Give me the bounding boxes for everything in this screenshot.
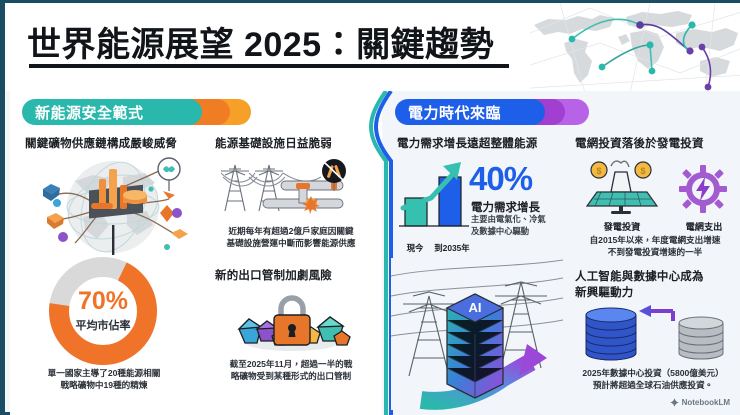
label-generation-investment: 發電投資 bbox=[577, 219, 667, 233]
server-stack-comparison-icon bbox=[577, 305, 729, 363]
title-underline bbox=[29, 64, 509, 68]
caption-ai-datacenters: 2025年數據中心投資（5800億美元）預計將超過全球石油供應投資。 bbox=[563, 367, 740, 391]
growth-bar-arrow-chart bbox=[397, 158, 472, 240]
notebooklm-logo-icon bbox=[670, 398, 679, 407]
banner-age-of-electricity: 電力時代來臨 bbox=[395, 99, 545, 125]
chart-market-share-donut: 70% 平均市佔率 bbox=[41, 249, 165, 373]
svg-text:AI: AI bbox=[469, 300, 482, 315]
world-map-connections-icon bbox=[530, 3, 740, 91]
transmission-towers-pipeline-icon bbox=[203, 155, 378, 221]
heading-grid-investment: 電網投資落後於發電投資 bbox=[575, 135, 704, 151]
caption-export-controls: 截至2025年11月，超過一半的戰略礦物受到某種形式的出口管制 bbox=[205, 358, 377, 382]
svg-text:$: $ bbox=[640, 166, 645, 176]
heading-ai-datacenters: 人工智能與數據中心成為新興驅動力 bbox=[575, 270, 704, 301]
footer-brand-label: NotebookLM bbox=[682, 398, 730, 407]
bar-label-2035: 到2035年 bbox=[429, 242, 475, 254]
svg-text:$: $ bbox=[596, 166, 601, 176]
stat-electricity-demand-sub: 主要由電氣化、冷氣及數據中心驅動 bbox=[471, 214, 566, 237]
caption-grid-investment: 自2015年以來，年度電網支出增速不到發電投資增速的一半 bbox=[567, 234, 740, 258]
footer-brand: NotebookLM bbox=[670, 398, 730, 407]
caption-infrastructure-vulnerable: 近期每年有超過2億戶家庭因關鍵基礎設施營運中斷而影響能源供應 bbox=[205, 225, 377, 249]
heading-infrastructure-vulnerable: 能源基礎設施日益脆弱 bbox=[215, 135, 332, 151]
banner-new-energy-security: 新能源安全範式 bbox=[22, 99, 202, 125]
grid-bolt-gear-icon bbox=[679, 165, 727, 213]
donut-percent-value: 70% bbox=[41, 287, 165, 316]
power-plant-solar-money-icon: $ $ bbox=[571, 158, 671, 216]
heading-export-controls: 新的出口管制加劇風險 bbox=[215, 267, 332, 283]
donut-percent-label: 平均市佔率 bbox=[41, 317, 165, 333]
ai-datacenter-transmission-tower-icon: AI bbox=[391, 258, 563, 410]
title-bar: 世界能源展望 2025：關鍵趨勢 bbox=[5, 3, 740, 91]
stat-electricity-demand-label: 電力需求增長 bbox=[471, 199, 540, 215]
stat-electricity-demand-growth: 40% bbox=[469, 160, 532, 198]
page-title: 世界能源展望 2025：關鍵趨勢 bbox=[27, 17, 494, 66]
globe-refinery-supply-chain-icon bbox=[27, 155, 199, 255]
infographic-page: 世界能源展望 2025：關鍵趨勢 新能源安全範式 電力時代來臨 關鍵礦物供應鏈構… bbox=[0, 0, 740, 415]
padlock-gemstones-icon bbox=[227, 287, 357, 353]
heading-critical-minerals: 關鍵礦物供應鏈構成嚴峻威脅 bbox=[25, 135, 177, 151]
heading-electricity-demand: 電力需求增長遠超整體能源 bbox=[397, 135, 537, 151]
comparison-arrow-icon bbox=[639, 305, 673, 321]
label-grid-spending: 電網支出 bbox=[665, 219, 740, 233]
caption-critical-minerals: 單一國家主導了20種能源相關戰略礦物中19種的精煉 bbox=[23, 367, 185, 391]
bar-label-now: 現今 bbox=[397, 242, 433, 254]
